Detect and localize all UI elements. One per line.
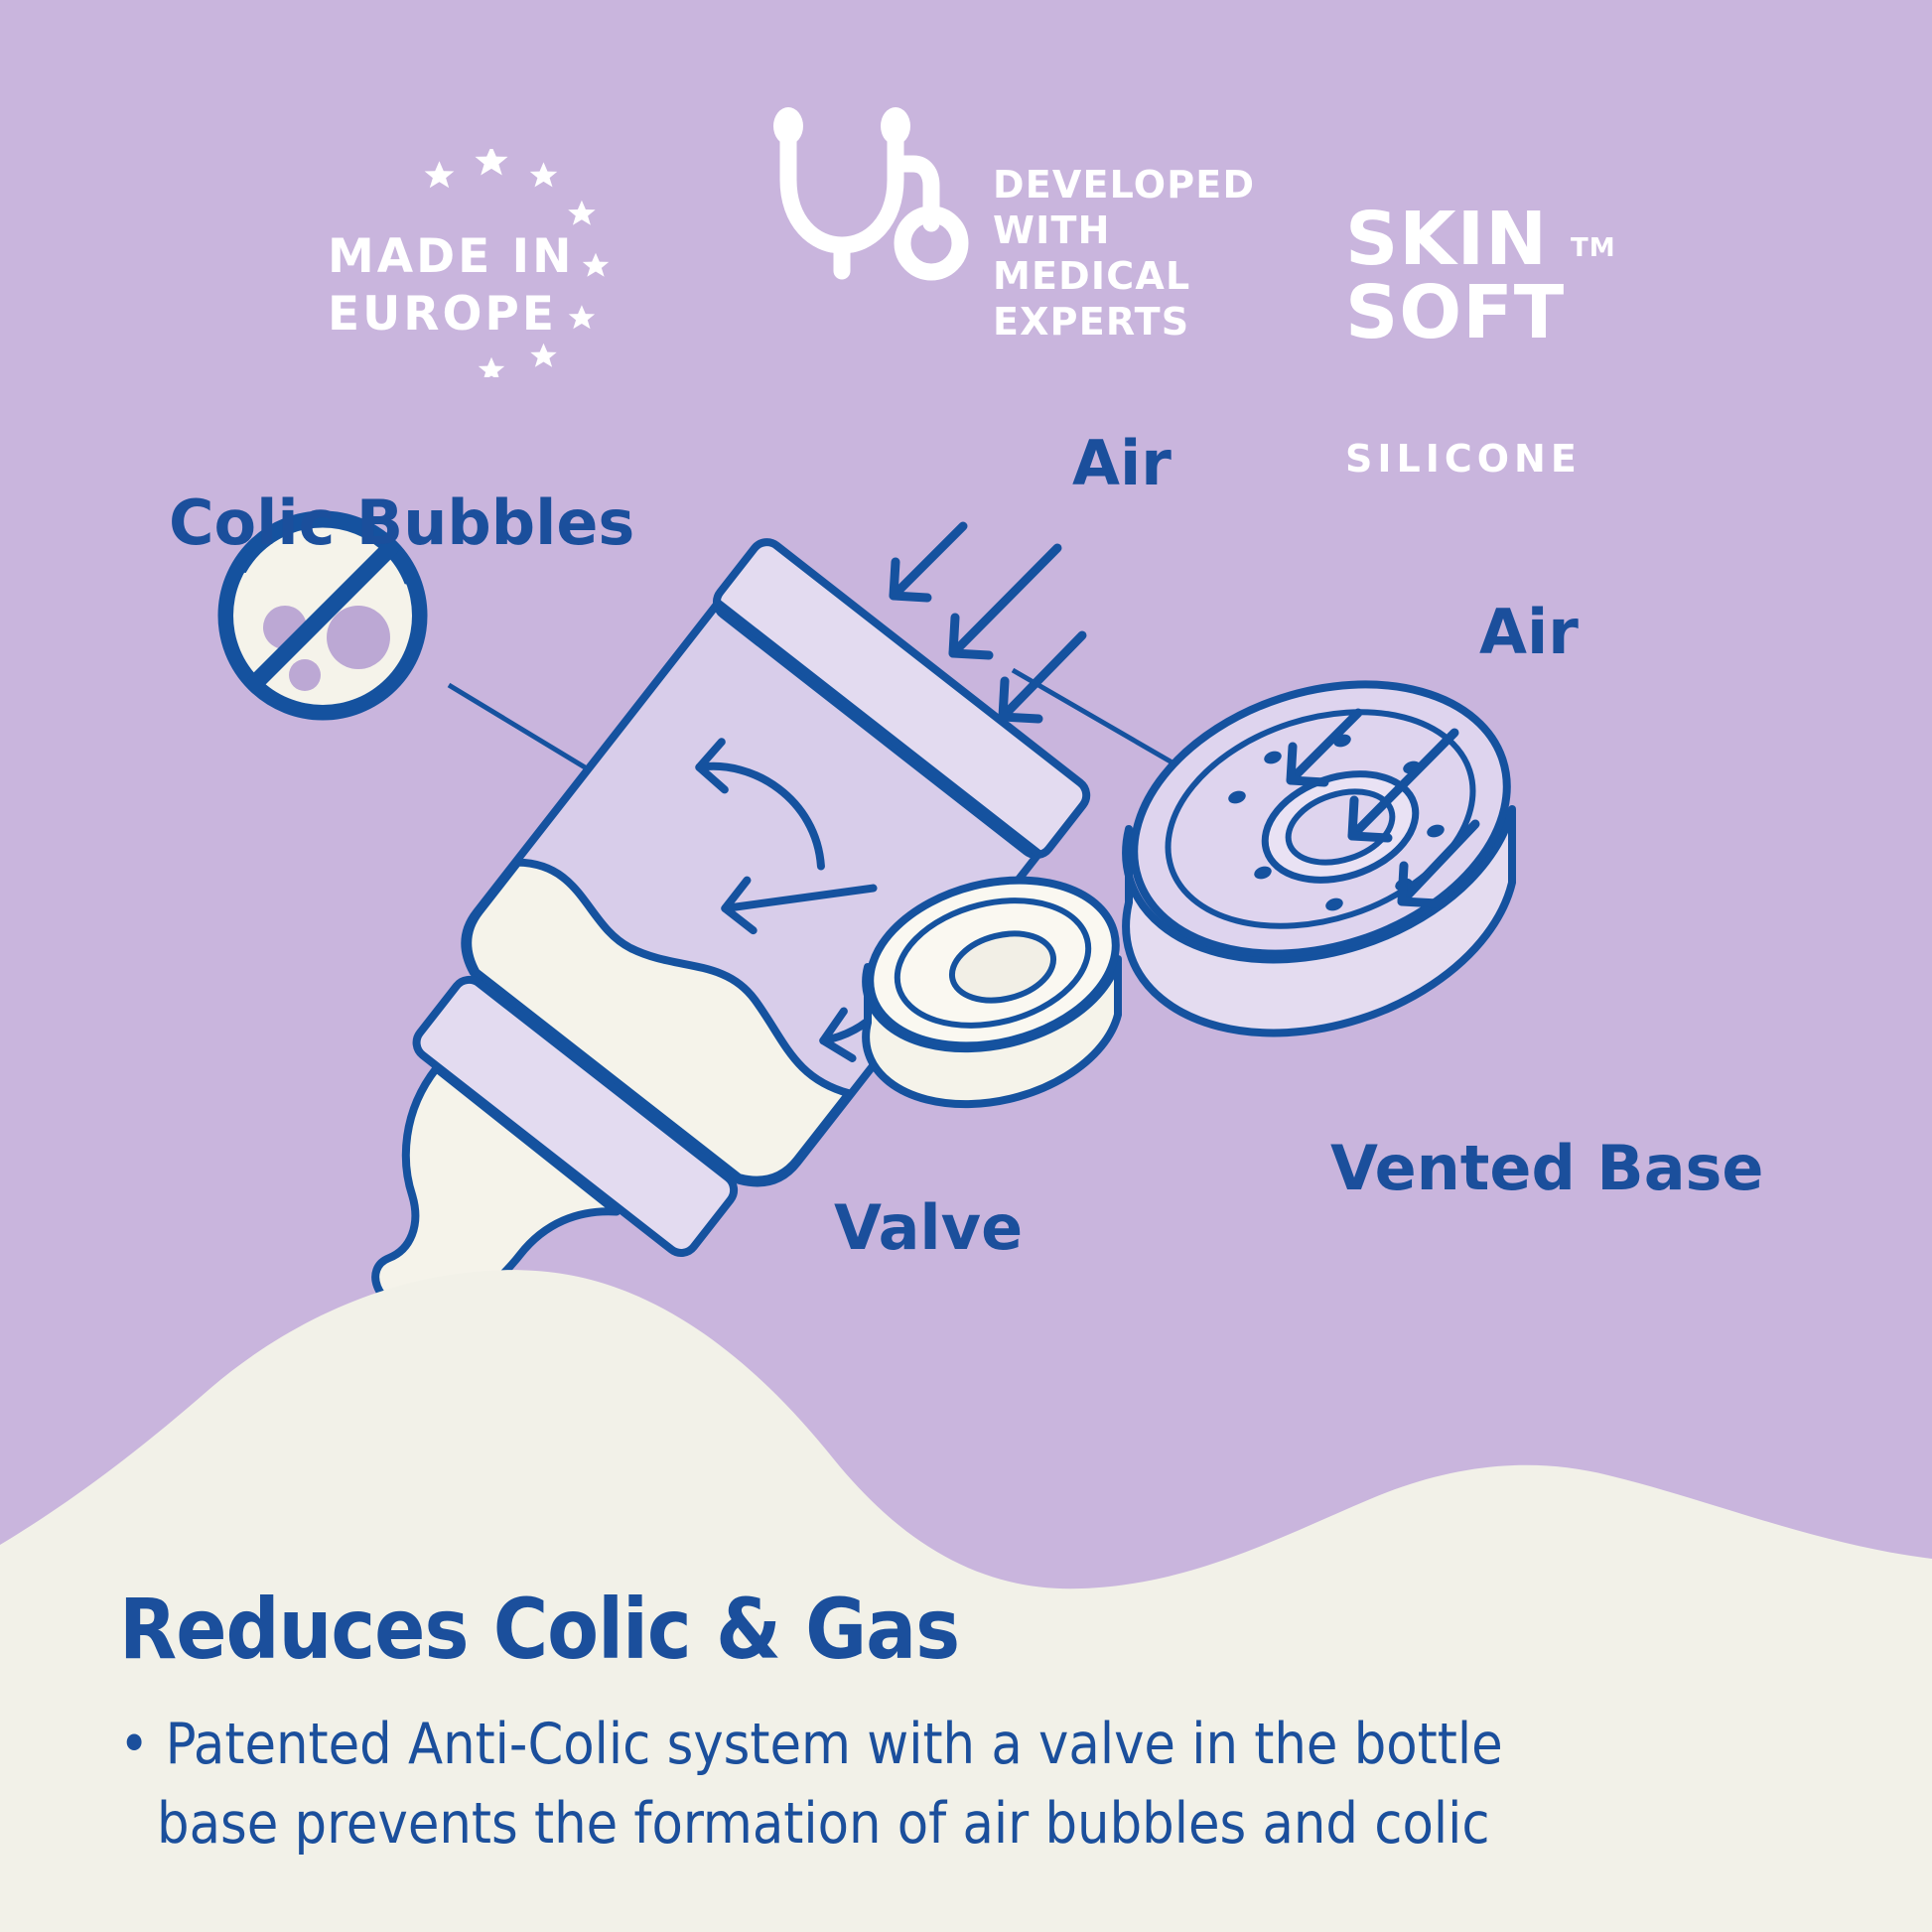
air-arrow <box>953 548 1057 655</box>
bullet-line-1: Patented Anti-Colic system with a valve … <box>166 1712 1503 1777</box>
badge-row: MADE IN EUROPE DEVELOPED WITH MEDICAL EX… <box>0 69 1932 298</box>
vented-base-disc-icon <box>1099 639 1542 1034</box>
page-headline: Reduces Colic & Gas <box>119 1584 1807 1675</box>
label-air-right: Air <box>1479 596 1579 668</box>
bottom-text-block: Reduces Colic & Gas • Patented Anti-Coli… <box>119 1584 1807 1863</box>
badge-made-in-europe: MADE IN EUROPE <box>298 149 695 328</box>
label-air-top: Air <box>1072 427 1172 499</box>
label-vented-base: Vented Base <box>1330 1132 1763 1204</box>
bullet-marker: • <box>119 1712 149 1777</box>
anti-colic-diagram: Colic Bubbles Air Air Valve Vented Base <box>0 328 1932 1400</box>
badge-skin-soft-silicone: SKIN SOFT TM SILICONE <box>1345 129 1802 347</box>
list-item: • Patented Anti-Colic system with a valv… <box>119 1705 1807 1863</box>
label-colic-bubbles: Colic Bubbles <box>169 486 634 559</box>
badge-developed-with-medical-experts: DEVELOPED WITH MEDICAL EXPERTS <box>755 104 1311 313</box>
air-arrow <box>894 526 963 598</box>
badge-made-in-europe-label: MADE IN EUROPE <box>328 228 574 344</box>
feature-bullet-list: • Patented Anti-Colic system with a valv… <box>119 1705 1807 1863</box>
stethoscope-icon <box>755 104 1003 313</box>
bullet-line-2: base prevents the formation of air bubbl… <box>157 1784 1807 1863</box>
label-valve: Valve <box>834 1191 1023 1264</box>
badge-medical-label: DEVELOPED WITH MEDICAL EXPERTS <box>993 162 1311 345</box>
product-feature-infographic: MADE IN EUROPE DEVELOPED WITH MEDICAL EX… <box>0 0 1932 1932</box>
trademark-symbol: TM <box>1571 211 1616 285</box>
